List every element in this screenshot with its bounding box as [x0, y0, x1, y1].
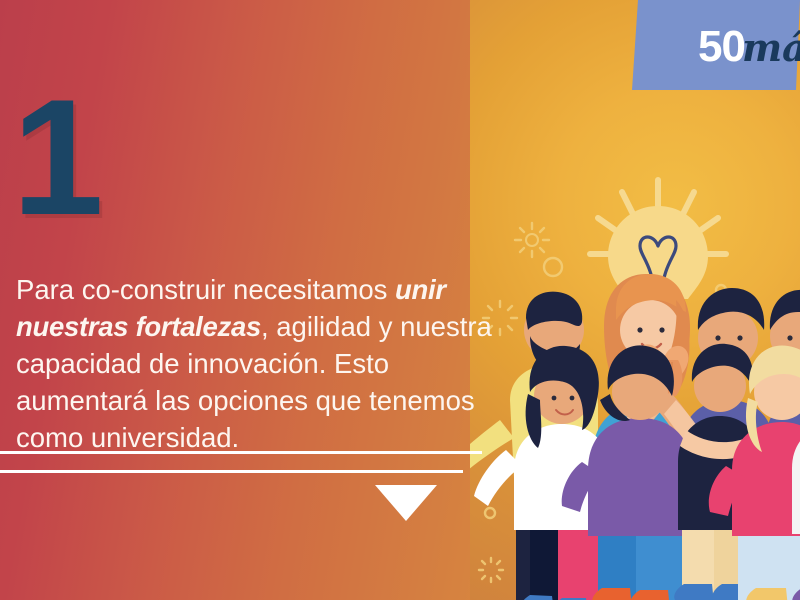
divider-line-top: [0, 451, 482, 454]
body-segment-1: Para co-construir necesitamos: [16, 274, 395, 305]
slide-body-text: Para co-construir necesitamos unir nuest…: [16, 271, 496, 456]
slide-canvas: 50más 1 Para co-construir necesitamos un…: [0, 0, 800, 600]
anniversary-banner: 50más: [620, 0, 800, 94]
slide-number: 1: [12, 82, 100, 232]
chevron-down-icon[interactable]: [375, 485, 437, 521]
banner-word: más: [742, 25, 800, 70]
banner-label: 50más: [698, 22, 800, 72]
banner-number: 50: [698, 22, 745, 71]
divider-line-bottom: [0, 470, 463, 473]
